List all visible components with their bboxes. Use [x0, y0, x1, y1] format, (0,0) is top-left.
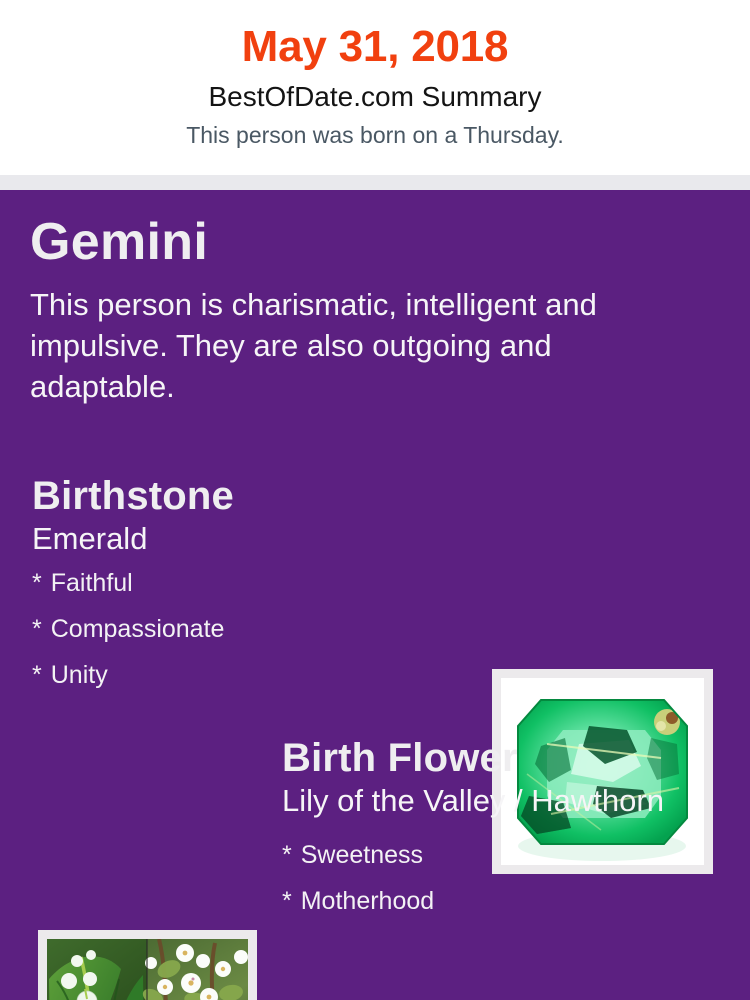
birthflower-trait-list: *Sweetness *Motherhood: [282, 843, 722, 914]
site-title: BestOfDate.com Summary: [0, 79, 750, 116]
birthflower-heading: Birth Flower: [282, 737, 722, 780]
birth-date-title: May 31, 2018: [0, 22, 750, 71]
birthflower-name: Lily of the Valley / Hawthorn: [282, 782, 722, 819]
asterisk-icon: *: [32, 615, 42, 643]
list-item: *Faithful: [32, 571, 462, 596]
birthstone-trait-label: Unity: [51, 661, 108, 689]
birthflower-section: Birth Flower Lily of the Valley / Hawtho…: [282, 737, 722, 935]
asterisk-icon: *: [32, 569, 42, 597]
page-header: May 31, 2018 BestOfDate.com Summary This…: [0, 0, 750, 175]
birthstone-trait-list: *Faithful *Compassionate *Unity: [32, 571, 462, 688]
list-item: *Compassionate: [32, 617, 462, 642]
born-weekday-line: This person was born on a Thursday.: [0, 121, 750, 151]
zodiac-description: This person is charismatic, intelligent …: [30, 285, 702, 408]
asterisk-icon: *: [282, 841, 292, 869]
summary-panel: Gemini This person is charismatic, intel…: [0, 190, 750, 1000]
birthflower-trait-label: Sweetness: [301, 841, 423, 869]
zodiac-sign-title: Gemini: [30, 216, 208, 268]
birthstone-trait-label: Compassionate: [51, 615, 225, 643]
birthflower-image-frame: [38, 930, 257, 1000]
asterisk-icon: *: [32, 661, 42, 689]
birthflower-image: [47, 939, 248, 1000]
list-item: *Sweetness: [282, 843, 722, 868]
list-item: *Motherhood: [282, 889, 722, 914]
birthstone-trait-label: Faithful: [51, 569, 133, 597]
birthstone-name: Emerald: [32, 520, 462, 557]
summary-page: May 31, 2018 BestOfDate.com Summary This…: [0, 0, 750, 1000]
header-divider: [0, 175, 750, 190]
birthstone-heading: Birthstone: [32, 475, 462, 518]
asterisk-icon: *: [282, 887, 292, 915]
birthflower-trait-label: Motherhood: [301, 887, 434, 915]
lily-of-the-valley-and-hawthorn-icon: [47, 939, 248, 1000]
birthstone-section: Birthstone Emerald *Faithful *Compassion…: [32, 475, 462, 709]
list-item: *Unity: [32, 663, 462, 688]
